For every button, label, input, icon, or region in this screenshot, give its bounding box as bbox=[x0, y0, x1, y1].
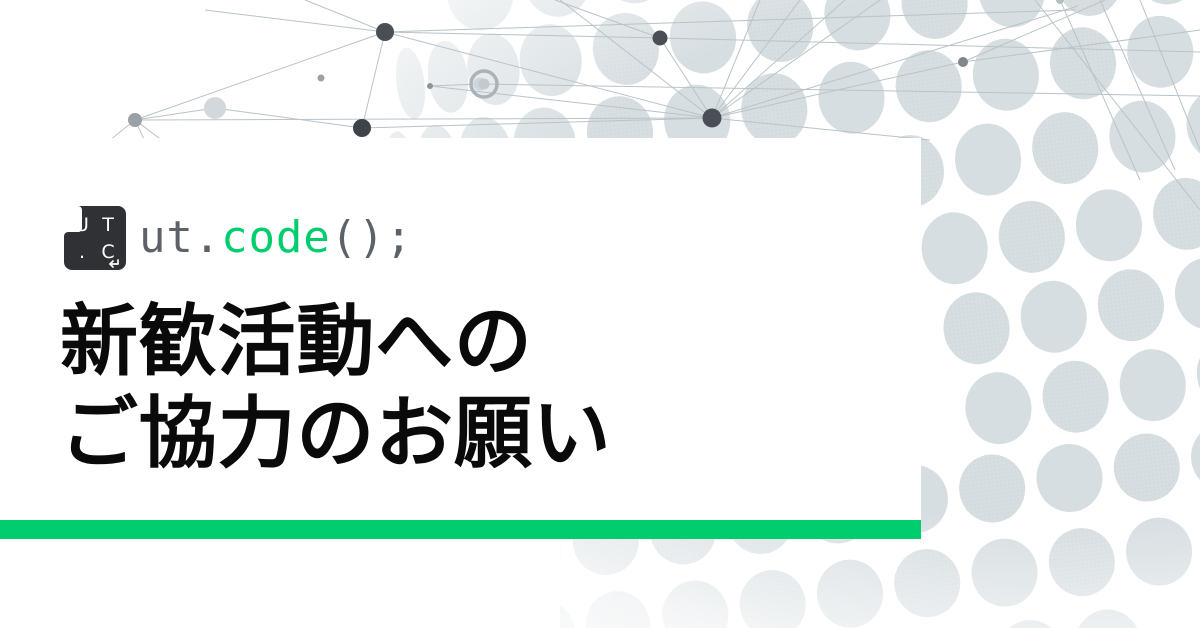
headline: 新歓活動へのご協力のお願い bbox=[60, 296, 611, 480]
headline-line-1: 新歓活動への bbox=[60, 296, 611, 388]
brand-lockup: U T . C ut.code(); bbox=[64, 206, 413, 270]
svg-text:T: T bbox=[101, 214, 114, 236]
svg-text:.: . bbox=[79, 241, 85, 263]
network-nodes bbox=[128, 0, 1064, 137]
ut-code-wordmark: ut.code(); bbox=[139, 216, 413, 260]
ut-code-logo-mark-icon: U T . C bbox=[64, 206, 126, 270]
svg-text:C: C bbox=[101, 241, 114, 263]
wordmark-token-code: code bbox=[221, 212, 330, 263]
svg-text:U: U bbox=[75, 214, 89, 236]
share-card: U T . C ut.code(); 新歓活動へのご協力のお願い bbox=[0, 0, 1200, 628]
wordmark-token-prefix: ut. bbox=[139, 212, 221, 263]
card-content: U T . C ut.code(); 新歓活動へのご協力のお願い bbox=[0, 138, 921, 524]
headline-line-2: ご協力のお願い bbox=[60, 388, 611, 480]
wordmark-token-suffix: (); bbox=[331, 212, 413, 263]
bottom-white-mask bbox=[0, 539, 560, 628]
